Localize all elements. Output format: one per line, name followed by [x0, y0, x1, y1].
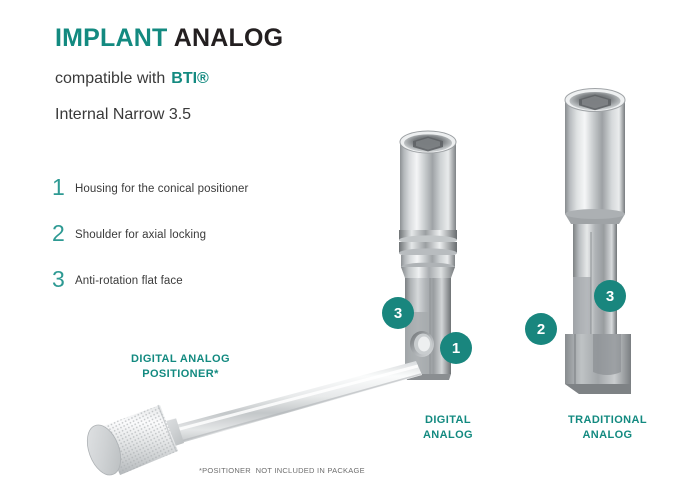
callout-badge-1-digital[interactable]: 1 [440, 332, 472, 364]
caption-positioner: DIGITAL ANALOG POSITIONER* [88, 352, 273, 382]
caption-traditional-analog: TRADITIONAL ANALOG [540, 413, 675, 443]
digital-hole-core [418, 337, 430, 352]
compatible-label: compatible with [55, 70, 165, 87]
page-title: IMPLANT ANALOG [55, 24, 283, 53]
title-analog: ANALOG [174, 24, 284, 52]
digital-upper-barrel [400, 142, 456, 230]
caption-positioner-line1: DIGITAL ANALOG [88, 352, 273, 367]
connection-line: Internal Narrow 3.5 [55, 106, 191, 124]
caption-digital-analog: DIGITAL ANALOG [393, 413, 503, 443]
compatibility-line: compatible withBTI® [55, 70, 209, 88]
callout-badge-2-traditional[interactable]: 2 [525, 313, 557, 345]
title-implant: IMPLANT [55, 24, 168, 52]
caption-digital-line1: DIGITAL [393, 413, 503, 428]
product-info-graphic: IMPLANT ANALOG compatible withBTI® Inter… [0, 0, 700, 500]
callout-badge-3-digital[interactable]: 3 [382, 297, 414, 329]
traditional-flat-face [573, 277, 591, 334]
brand-name: BTI® [171, 70, 209, 87]
callout-badge-3-traditional[interactable]: 3 [594, 280, 626, 312]
legend-label: Housing for the conical positioner [75, 183, 248, 195]
legend-number: 2 [52, 222, 74, 245]
traditional-base-notch [593, 334, 621, 375]
legend-label: Anti-rotation flat face [75, 275, 183, 287]
caption-traditional-line1: TRADITIONAL [540, 413, 675, 428]
legend-number: 3 [52, 268, 74, 291]
caption-traditional-line2: ANALOG [540, 428, 675, 443]
caption-digital-line2: ANALOG [393, 428, 503, 443]
traditional-shoulder-edge [565, 209, 625, 219]
caption-positioner-line2: POSITIONER* [88, 367, 273, 382]
legend-label: Shoulder for axial locking [75, 229, 206, 241]
legend-number: 1 [52, 176, 74, 199]
digital-analog-image [378, 112, 498, 382]
digital-shoulder [401, 267, 455, 278]
traditional-top-barrel [565, 100, 625, 214]
footnote-text: *POSITIONER NOT INCLUDED IN PACKAGE [199, 466, 365, 475]
traditional-analog-image [545, 72, 665, 407]
positioner-rod-shadow [174, 374, 421, 443]
traditional-base-bottom [565, 384, 631, 394]
